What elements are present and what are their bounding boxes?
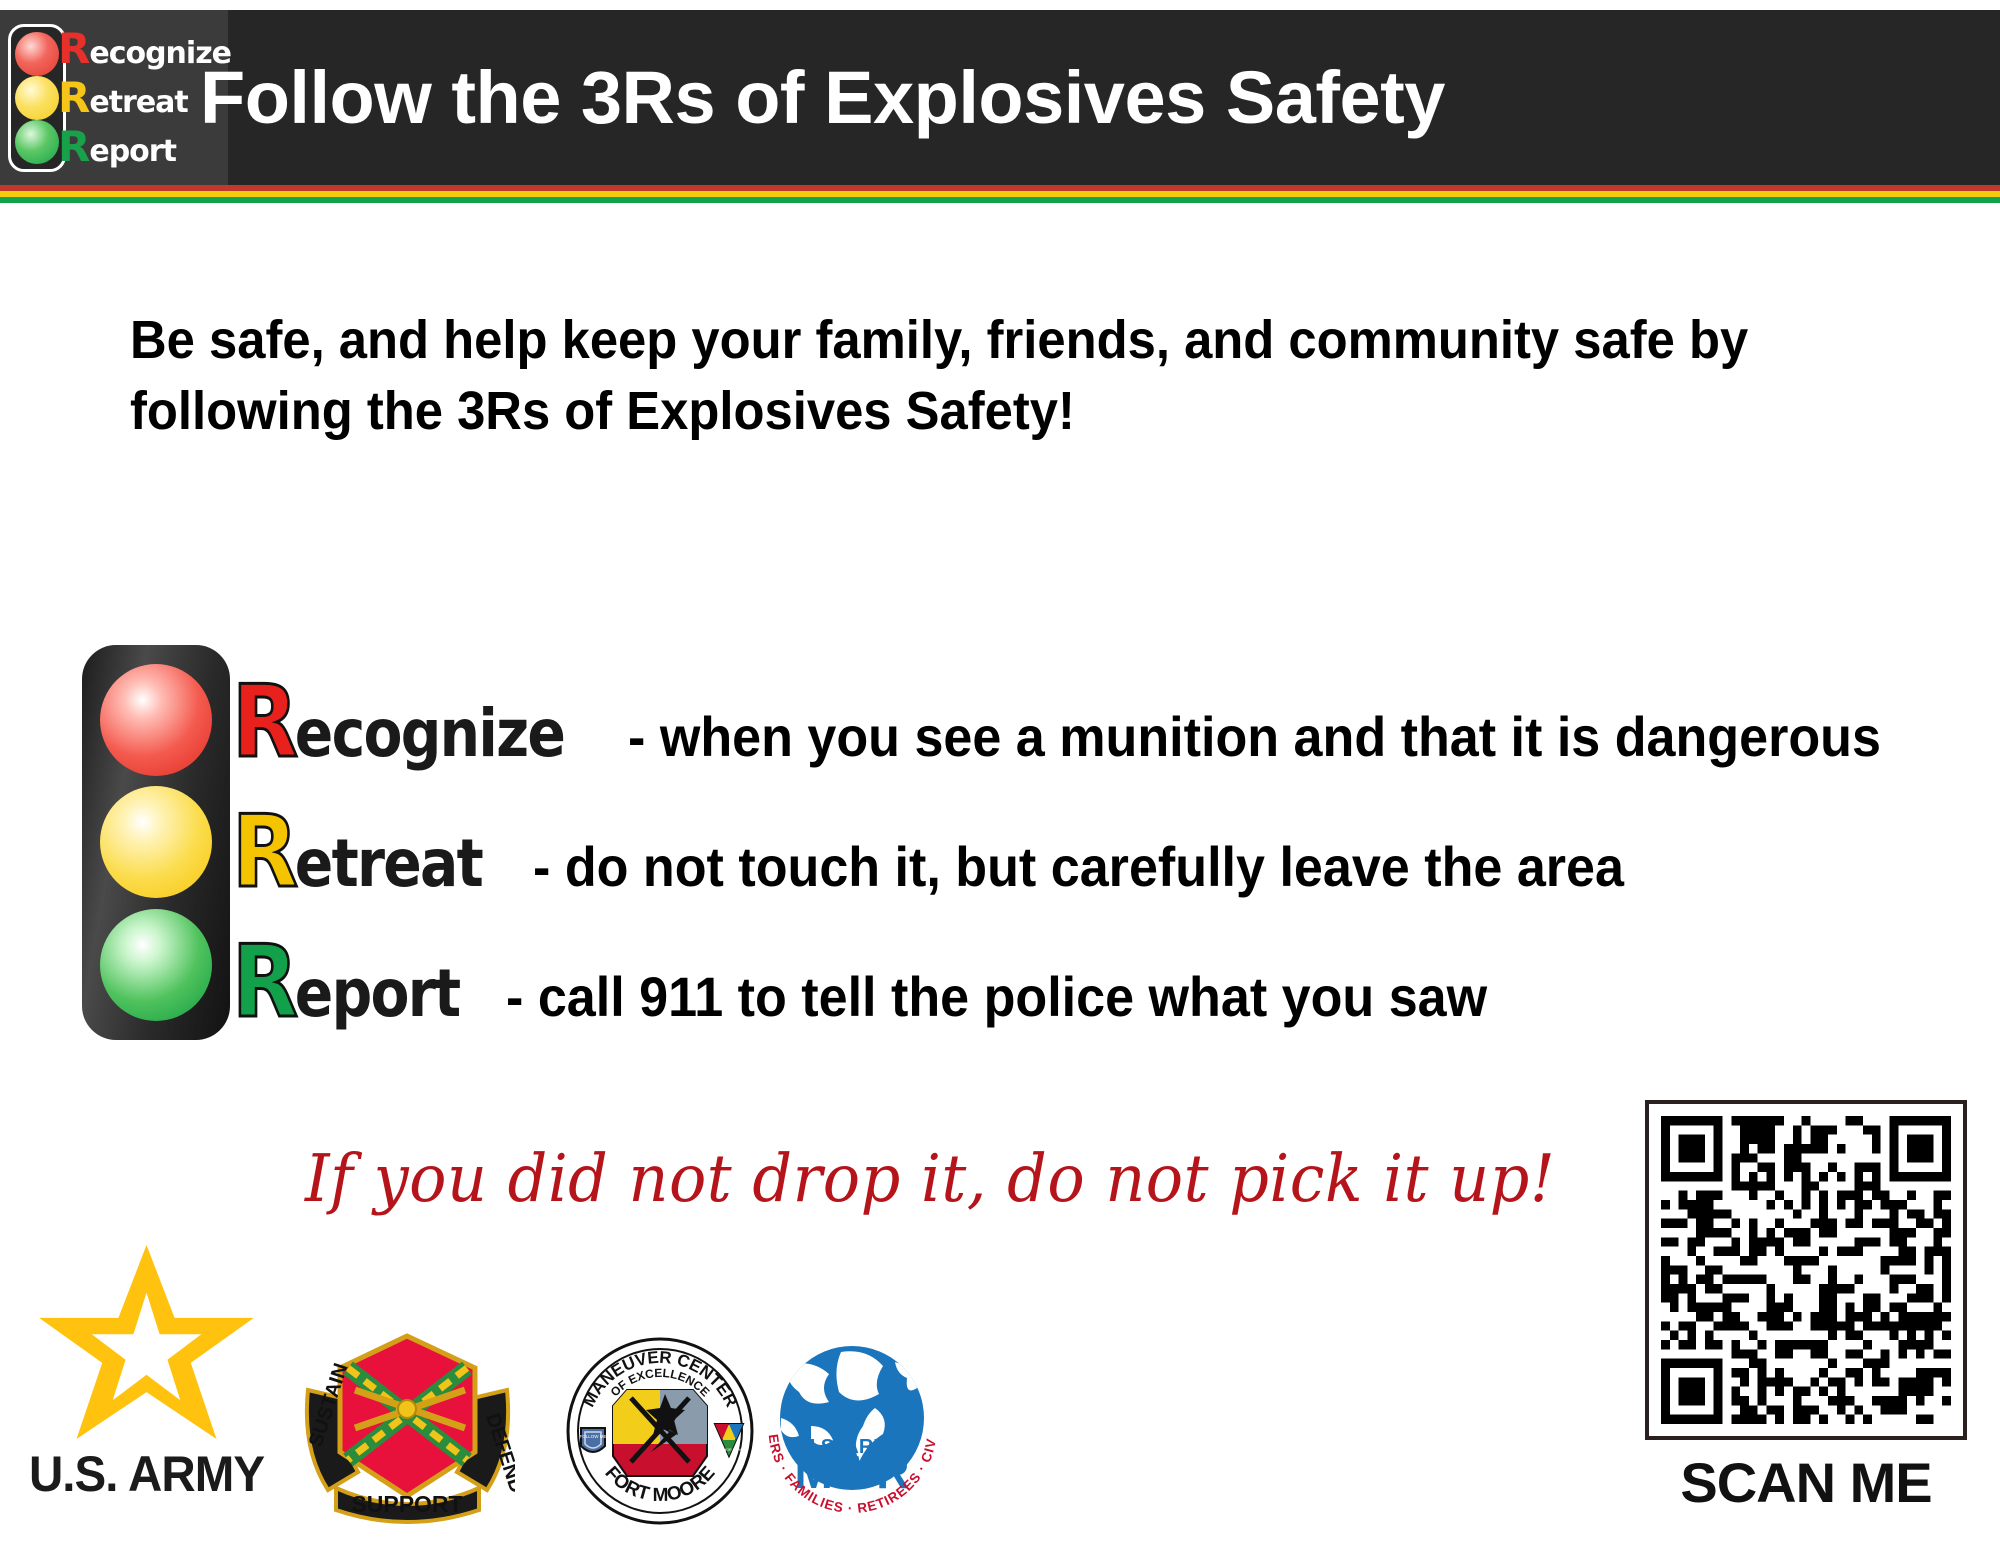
three-rs-section: Recognize - when you see a munition and …	[82, 645, 1982, 1045]
army-star-icon	[24, 1245, 269, 1445]
three-rs-cap-r-recognize: R	[232, 663, 295, 780]
army-mwr-svg: U.S. ARMY MWR SOLDIERS · FAMILIES · RETI…	[755, 1322, 950, 1527]
header-logo-cap-r1: R	[58, 24, 89, 73]
imcom-crest-svg: SUSTAIN DEFEND SUPPORT	[300, 1320, 515, 1530]
three-rs-desc-report: - call 911 to tell the police what you s…	[506, 964, 1487, 1029]
stripe-green	[0, 197, 2000, 203]
us-army-logo: U.S. ARMY	[14, 1245, 284, 1535]
header-3rs-logo: Recognize Retreat Report	[0, 10, 228, 185]
poster-root: Recognize Retreat Report Follow the 3Rs …	[0, 0, 2000, 1545]
three-rs-row-report: Report - call 911 to tell the police wha…	[232, 923, 1561, 1040]
fort-moore-seal-icon: FOLLOW ME THE ARMOR SCHOOL MANEUVER CENT…	[565, 1332, 755, 1527]
header-logo-rest-retreat: etreat	[89, 85, 187, 120]
qr-code-block[interactable]: SCAN ME	[1645, 1100, 1975, 1540]
qr-code-frame[interactable]	[1645, 1100, 1967, 1440]
tagline-text: If you did not drop it, do not pick it u…	[305, 1140, 1555, 1217]
accent-stripes	[0, 185, 2000, 203]
fort-moore-badge-left-label: FOLLOW ME	[579, 1434, 606, 1439]
page-title: Follow the 3Rs of Explosives Safety	[200, 10, 1445, 185]
header-logo-rest-report: eport	[89, 134, 176, 169]
traffic-light-large-red-lamp-icon	[100, 664, 212, 776]
header-bar: Recognize Retreat Report Follow the 3Rs …	[0, 10, 2000, 185]
fort-moore-badge-right-label: THE ARMOR SCHOOL	[710, 1448, 748, 1452]
imcom-garrison-crest-icon: SUSTAIN DEFEND SUPPORT	[300, 1320, 515, 1530]
traffic-light-yellow-lamp-icon	[15, 76, 59, 120]
intro-paragraph: Be safe, and help keep your family, frie…	[130, 305, 1860, 448]
three-rs-cap-r-retreat: R	[232, 793, 295, 910]
three-rs-desc-retreat: - do not touch it, but carefully leave t…	[533, 834, 1624, 899]
us-army-label: U.S. ARMY	[21, 1445, 273, 1503]
three-rs-row-recognize: Recognize - when you see a munition and …	[232, 663, 1976, 780]
three-rs-rest-recognize: ecognize	[295, 695, 564, 772]
qr-code-image[interactable]	[1661, 1116, 1951, 1424]
traffic-light-icon-large	[82, 645, 230, 1040]
three-rs-desc-recognize: - when you see a munition and that it is…	[628, 704, 1881, 769]
header-logo-cap-r3: R	[58, 122, 89, 171]
traffic-light-green-lamp-icon	[15, 120, 59, 164]
three-rs-rest-report: eport	[295, 955, 460, 1032]
three-rs-rest-retreat: etreat	[295, 825, 482, 902]
qr-scan-me-label: SCAN ME	[1645, 1450, 1967, 1515]
imcom-scroll-support: SUPPORT	[351, 1491, 462, 1517]
traffic-light-large-green-lamp-icon	[100, 909, 212, 1021]
three-rs-word-report: Report	[232, 923, 459, 1040]
three-rs-word-retreat: Retreat	[232, 793, 482, 910]
army-mwr-logo-icon: U.S. ARMY MWR SOLDIERS · FAMILIES · RETI…	[755, 1322, 950, 1527]
fort-moore-seal-svg: FOLLOW ME THE ARMOR SCHOOL MANEUVER CENT…	[565, 1332, 755, 1527]
three-rs-row-retreat: Retreat - do not touch it, but carefully…	[232, 793, 1706, 910]
three-rs-word-recognize: Recognize	[232, 663, 564, 780]
header-logo-cap-r2: R	[58, 73, 89, 122]
traffic-light-large-yellow-lamp-icon	[100, 786, 212, 898]
three-rs-cap-r-report: R	[232, 923, 295, 1040]
traffic-light-red-lamp-icon	[15, 32, 59, 76]
